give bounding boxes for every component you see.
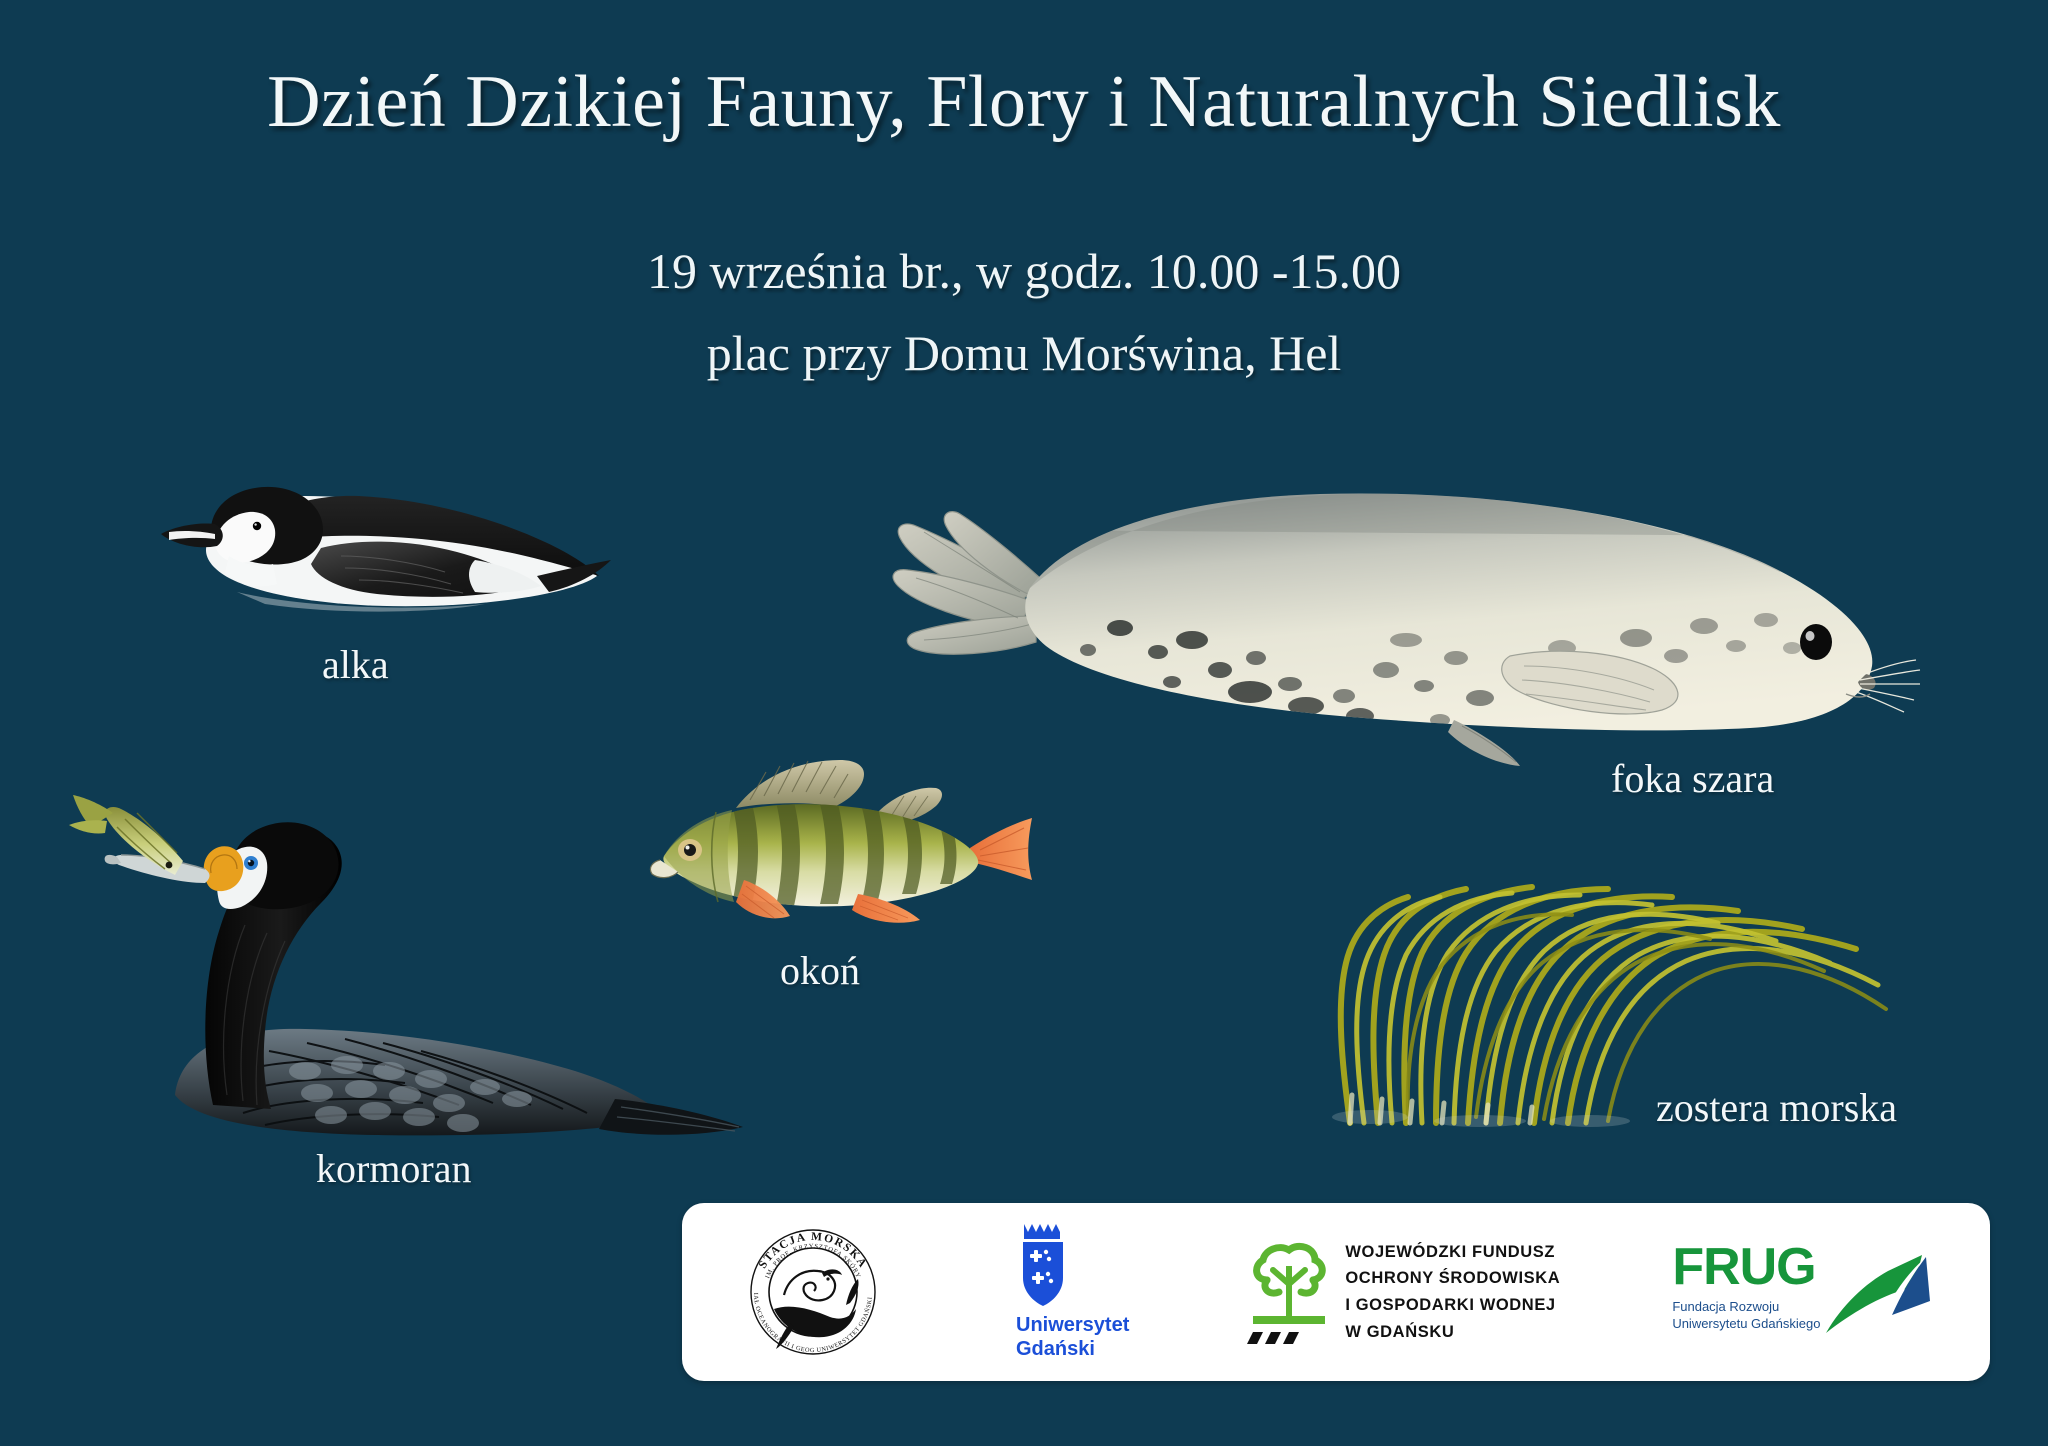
species-label-foka-szara: foka szara bbox=[1611, 755, 1774, 802]
eelgrass-illustration bbox=[1290, 845, 1910, 1125]
poster-canvas: Dzień Dzikiej Fauny, Flory i Naturalnych… bbox=[0, 0, 2048, 1446]
species-label-alka: alka bbox=[322, 641, 389, 688]
wfos-label-line1: WOJEWÓDZKI FUNDUSZ bbox=[1345, 1239, 1560, 1266]
stacja-morska-logo: STACJA MORSKA IM. PROF. KRZYSZTOFA SKÓRY… bbox=[738, 1217, 888, 1367]
event-datetime: 19 września br., w godz. 10.00 -15.00 bbox=[0, 238, 2048, 306]
razorbill-illustration bbox=[145, 452, 625, 632]
wfos-label-line2: OCHRONY ŚRODOWISKA bbox=[1345, 1265, 1560, 1292]
wfos-label-line3: I GOSPODARKI WODNEJ bbox=[1345, 1292, 1560, 1319]
frug-swoosh-icon bbox=[1826, 1249, 1930, 1341]
ug-shield-icon bbox=[1016, 1222, 1070, 1308]
frug-sub-line1: Fundacja Rozwoju bbox=[1672, 1299, 1820, 1316]
green-tree-icon bbox=[1247, 1240, 1331, 1344]
frug-logo: FRUG Fundacja Rozwoju Uniwersytetu Gdańs… bbox=[1672, 1243, 1930, 1341]
uniwersytet-gdanski-logo: Uniwersytet Gdański bbox=[1016, 1222, 1129, 1361]
grey-seal-illustration bbox=[820, 470, 1940, 770]
species-label-okon: okoń bbox=[780, 947, 860, 994]
sponsor-logo-bar: STACJA MORSKA IM. PROF. KRZYSZTOFA SKÓRY… bbox=[682, 1203, 1990, 1381]
species-label-kormoran: kormoran bbox=[316, 1145, 472, 1192]
cormorant-illustration bbox=[55, 765, 775, 1140]
wfosigw-gdansk-logo: WOJEWÓDZKI FUNDUSZ OCHRONY ŚRODOWISKA I … bbox=[1247, 1239, 1560, 1346]
species-label-zostera-morska: zostera morska bbox=[1656, 1084, 1897, 1131]
ug-label-line1: Uniwersytet bbox=[1016, 1314, 1129, 1338]
ug-label-line2: Gdański bbox=[1016, 1338, 1129, 1362]
event-location: plac przy Domu Morświna, Hel bbox=[0, 320, 2048, 388]
frug-wordmark: FRUG bbox=[1672, 1243, 1820, 1293]
frug-sub-line2: Uniwersytetu Gdańskiego bbox=[1672, 1316, 1820, 1333]
wfos-label-line4: W GDAŃSKU bbox=[1345, 1319, 1560, 1346]
page-title: Dzień Dzikiej Fauny, Flory i Naturalnych… bbox=[0, 62, 2048, 143]
